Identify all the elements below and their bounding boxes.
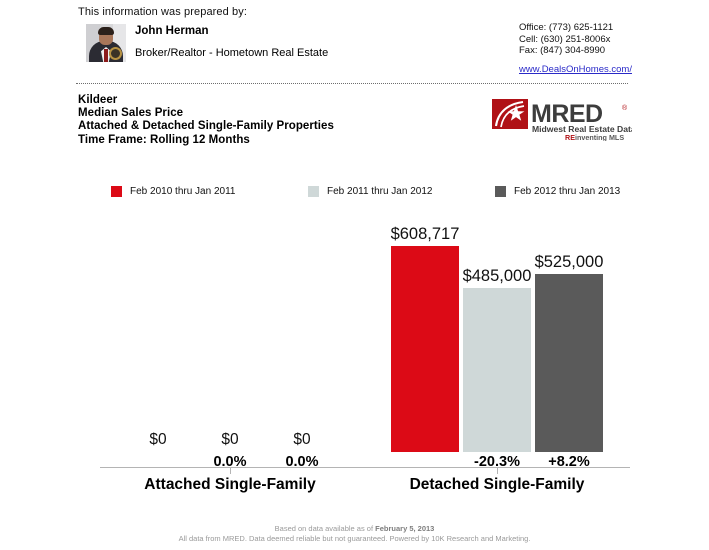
- legend-label-1: Feb 2011 thru Jan 2012: [327, 186, 432, 197]
- report-location: Kildeer: [78, 94, 334, 107]
- footer-line-2: All data from MRED. Data deemed reliable…: [0, 534, 709, 544]
- bar-value-label-g1-s0: $608,717: [369, 225, 481, 244]
- header-divider: [76, 83, 628, 85]
- legend-item-1[interactable]: Feb 2011 thru Jan 2012: [308, 186, 432, 197]
- prepared-by-label: This information was prepared by:: [78, 6, 247, 18]
- report-time-frame: Time Frame: Rolling 12 Months: [78, 134, 334, 147]
- agent-name: John Herman: [135, 24, 328, 39]
- bar-value-label-g0-s1: $0: [174, 431, 286, 449]
- footer-data-as-of-prefix: Based on data available as of: [275, 524, 376, 533]
- logo-slogan-text: REinventing MLS: [565, 133, 624, 141]
- footer-note: Based on data available as of February 5…: [0, 524, 709, 544]
- footer-line-1: Based on data available as of February 5…: [0, 524, 709, 534]
- bar-g1-s1: [463, 288, 531, 452]
- bar-value-label-g1-s2: $525,000: [513, 253, 625, 272]
- legend-swatch-icon-2: [495, 186, 506, 197]
- contact-details: Office: (773) 625-1121 Cell: (630) 251-8…: [519, 22, 613, 57]
- legend-item-2[interactable]: Feb 2012 thru Jan 2013: [495, 186, 620, 197]
- legend-label-2: Feb 2012 thru Jan 2013: [514, 186, 620, 197]
- website-link[interactable]: www.DealsOnHomes.com/: [519, 64, 632, 75]
- agent-info: John Herman Broker/Realtor - Hometown Re…: [86, 24, 328, 62]
- mred-logo: MRED ® Midwest Real Estate Data REinvent…: [492, 99, 632, 141]
- bar-value-label-g0-s2: $0: [246, 431, 358, 449]
- chart-legend: Feb 2010 thru Jan 2011Feb 2011 thru Jan …: [0, 186, 709, 200]
- legend-item-0[interactable]: Feb 2010 thru Jan 2011: [111, 186, 235, 197]
- report-title-block: Kildeer Median Sales Price Attached & De…: [78, 94, 334, 147]
- cell-phone: Cell: (630) 251-8006x: [519, 34, 613, 46]
- report-property-types: Attached & Detached Single-Family Proper…: [78, 120, 334, 133]
- legend-swatch-icon-1: [308, 186, 319, 197]
- legend-swatch-icon-0: [111, 186, 122, 197]
- office-phone: Office: (773) 625-1121: [519, 22, 613, 34]
- bar-value-label-g0-s0: $0: [102, 431, 214, 449]
- svg-text:®: ®: [622, 104, 628, 112]
- footer-data-as-of-date: February 5, 2013: [375, 524, 434, 533]
- bar-g1-s0: [391, 246, 459, 452]
- bar-g1-s2: [535, 274, 603, 452]
- bar-value-label-g1-s1: $485,000: [441, 267, 553, 286]
- agent-photo-avatar: [86, 24, 126, 62]
- axis-tick-1: [497, 468, 498, 474]
- agent-title: Broker/Realtor - Hometown Real Estate: [135, 46, 328, 61]
- category-axis-line: [100, 467, 630, 468]
- fax-number: Fax: (847) 304-8990: [519, 45, 613, 57]
- report-metric: Median Sales Price: [78, 107, 334, 120]
- legend-label-0: Feb 2010 thru Jan 2011: [130, 186, 235, 197]
- axis-tick-0: [230, 468, 231, 474]
- category-label-0: Attached Single-Family: [100, 476, 360, 494]
- category-label-1: Detached Single-Family: [367, 476, 627, 494]
